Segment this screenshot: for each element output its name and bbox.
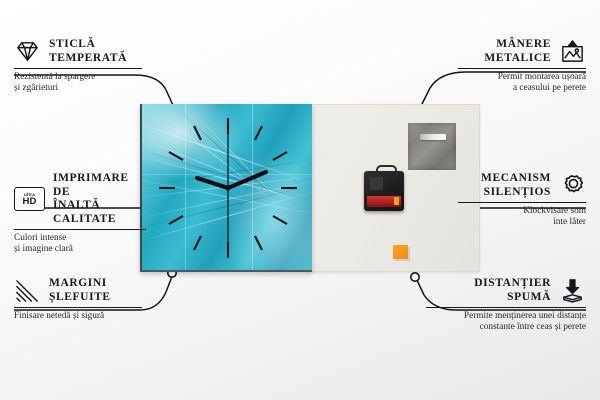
callout-metal-handles: MÂNERE METALICE Permit montarea ușoară a…: [458, 38, 586, 94]
metal-hanger-bracket: [408, 123, 456, 170]
ultra-hd-main-text: HD: [22, 197, 36, 207]
clock-hands: [142, 104, 312, 272]
gear-icon: [559, 172, 586, 199]
infographic-canvas: STICLĂ TEMPERATĂ Rezistentă la spargere …: [0, 0, 600, 400]
callout-subtitle: Rezistentă la spargere și zgârieturi: [14, 72, 142, 94]
callout-foam-spacer: DISTANȚIER SPUMĂ Permite menținerea unei…: [426, 277, 586, 333]
callout-divider: [14, 307, 142, 308]
glass-clock-face: [140, 104, 312, 272]
quartz-movement: [364, 171, 404, 211]
callout-high-quality-print: ultra HD IMPRIMARE DE ÎNALTĂ CALITATE Cu…: [14, 172, 146, 255]
product-wall-clock: [140, 104, 480, 272]
battery: [367, 196, 401, 207]
minute-hand: [197, 178, 228, 188]
callout-title: DISTANȚIER SPUMĂ: [474, 277, 551, 304]
battery-terminal: [394, 197, 399, 205]
callout-divider: [14, 229, 146, 230]
callout-divider: [458, 68, 586, 69]
diamond-icon: [14, 38, 41, 65]
callout-polished-edges: MARGINI ȘLEFUITE Finisare netedă și sigu…: [14, 277, 142, 322]
callout-silent-mechanism: MECANISM SILENȚIOS Klockvisare som inte …: [458, 172, 586, 228]
hatched-edge-icon: [14, 277, 41, 304]
callout-subtitle: Permit montarea ușoară a ceasului pe per…: [458, 72, 586, 94]
callout-divider: [458, 202, 586, 203]
press-down-pad-icon: [559, 277, 586, 304]
clock-back-panel: [307, 104, 480, 272]
movement-adjust-dial: [370, 177, 383, 190]
callout-subtitle: Klockvisare som inte låter: [458, 206, 586, 228]
foam-spacer-pad: [393, 245, 408, 259]
callout-subtitle: Permite menținerea unei distanțe constan…: [426, 311, 586, 333]
callout-subtitle: Finisare netedă și sigură: [14, 311, 142, 322]
movement-hanging-loop: [376, 165, 397, 176]
hour-hand: [228, 172, 266, 188]
callout-title: STICLĂ TEMPERATĂ: [49, 38, 127, 65]
hanger-slot: [420, 134, 446, 140]
callout-title: IMPRIMARE DE ÎNALTĂ CALITATE: [53, 172, 146, 226]
callout-tempered-glass: STICLĂ TEMPERATĂ Rezistentă la spargere …: [14, 38, 142, 94]
callout-divider: [426, 307, 586, 308]
callout-subtitle: Culori intense și imagine clară: [14, 233, 146, 255]
ultra-hd-icon: ultra HD: [14, 187, 45, 211]
callout-title: MARGINI ȘLEFUITE: [49, 277, 111, 304]
callout-title: MECANISM SILENȚIOS: [481, 172, 551, 199]
clock-center-cap: [225, 185, 230, 190]
callout-divider: [14, 68, 142, 69]
framed-picture-icon: [559, 38, 586, 65]
connector-dot-foam-spacer: [411, 273, 419, 281]
callout-title: MÂNERE METALICE: [484, 38, 551, 65]
